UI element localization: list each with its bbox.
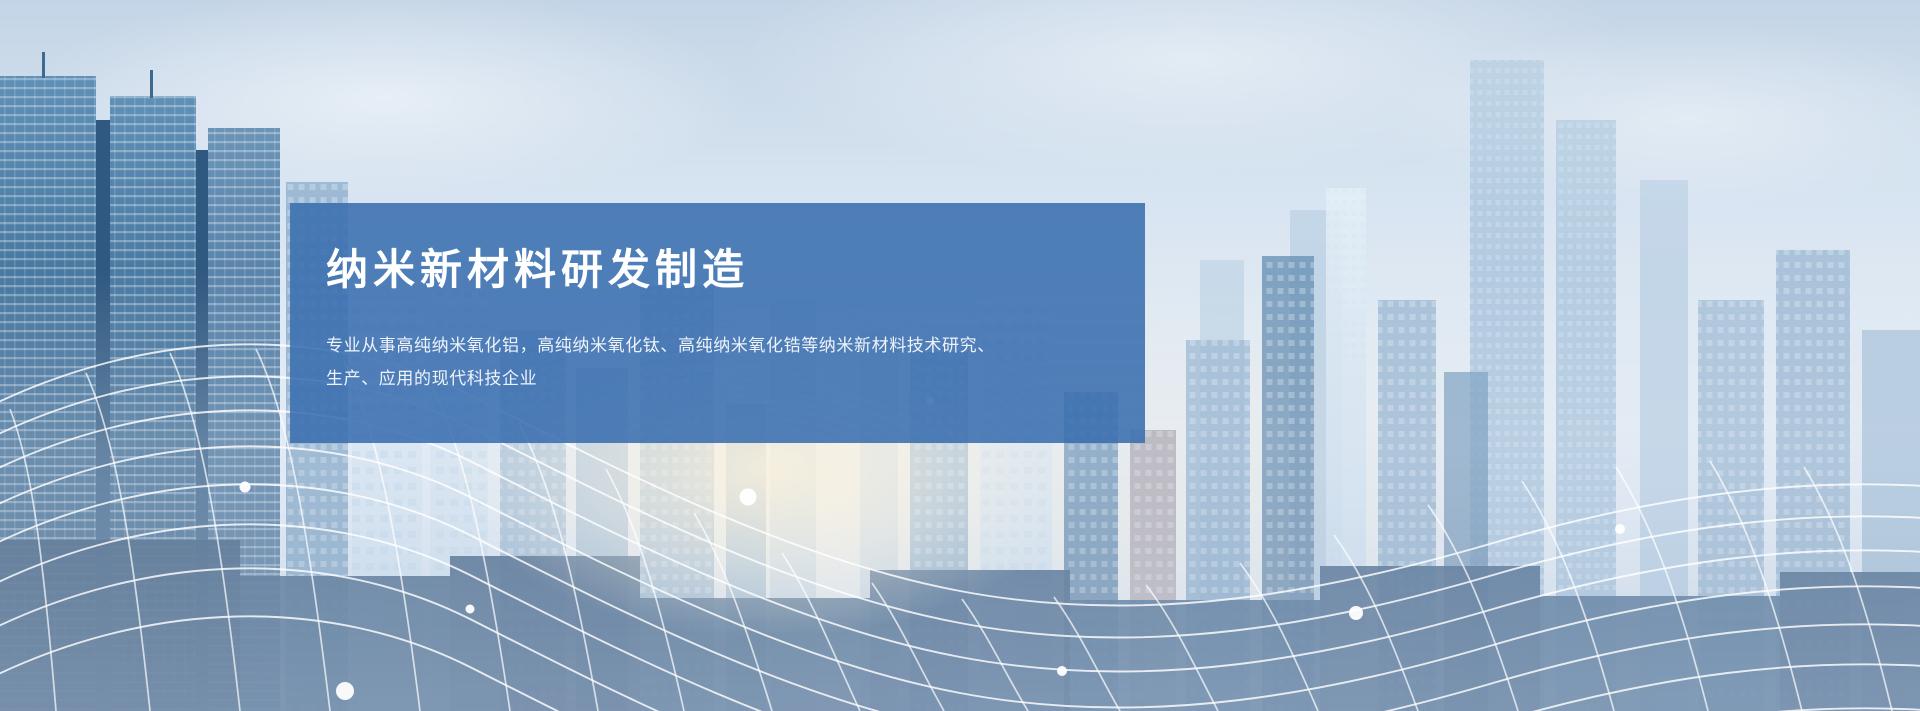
hero-title: 纳米新材料研发制造: [326, 247, 1109, 293]
hero-description: 专业从事高纯纳米氧化铝，高纯纳米氧化钛、高纯纳米氧化锆等纳米新材料技术研究、 生…: [326, 329, 1109, 395]
hero-description-line-1: 专业从事高纯纳米氧化铝，高纯纳米氧化钛、高纯纳米氧化锆等纳米新材料技术研究、: [326, 329, 1109, 362]
hero-banner: 纳米新材料研发制造 专业从事高纯纳米氧化铝，高纯纳米氧化钛、高纯纳米氧化锆等纳米…: [0, 0, 1920, 711]
hero-text-panel: 纳米新材料研发制造 专业从事高纯纳米氧化铝，高纯纳米氧化钛、高纯纳米氧化锆等纳米…: [290, 203, 1145, 443]
hero-description-line-2: 生产、应用的现代科技企业: [326, 362, 1109, 395]
